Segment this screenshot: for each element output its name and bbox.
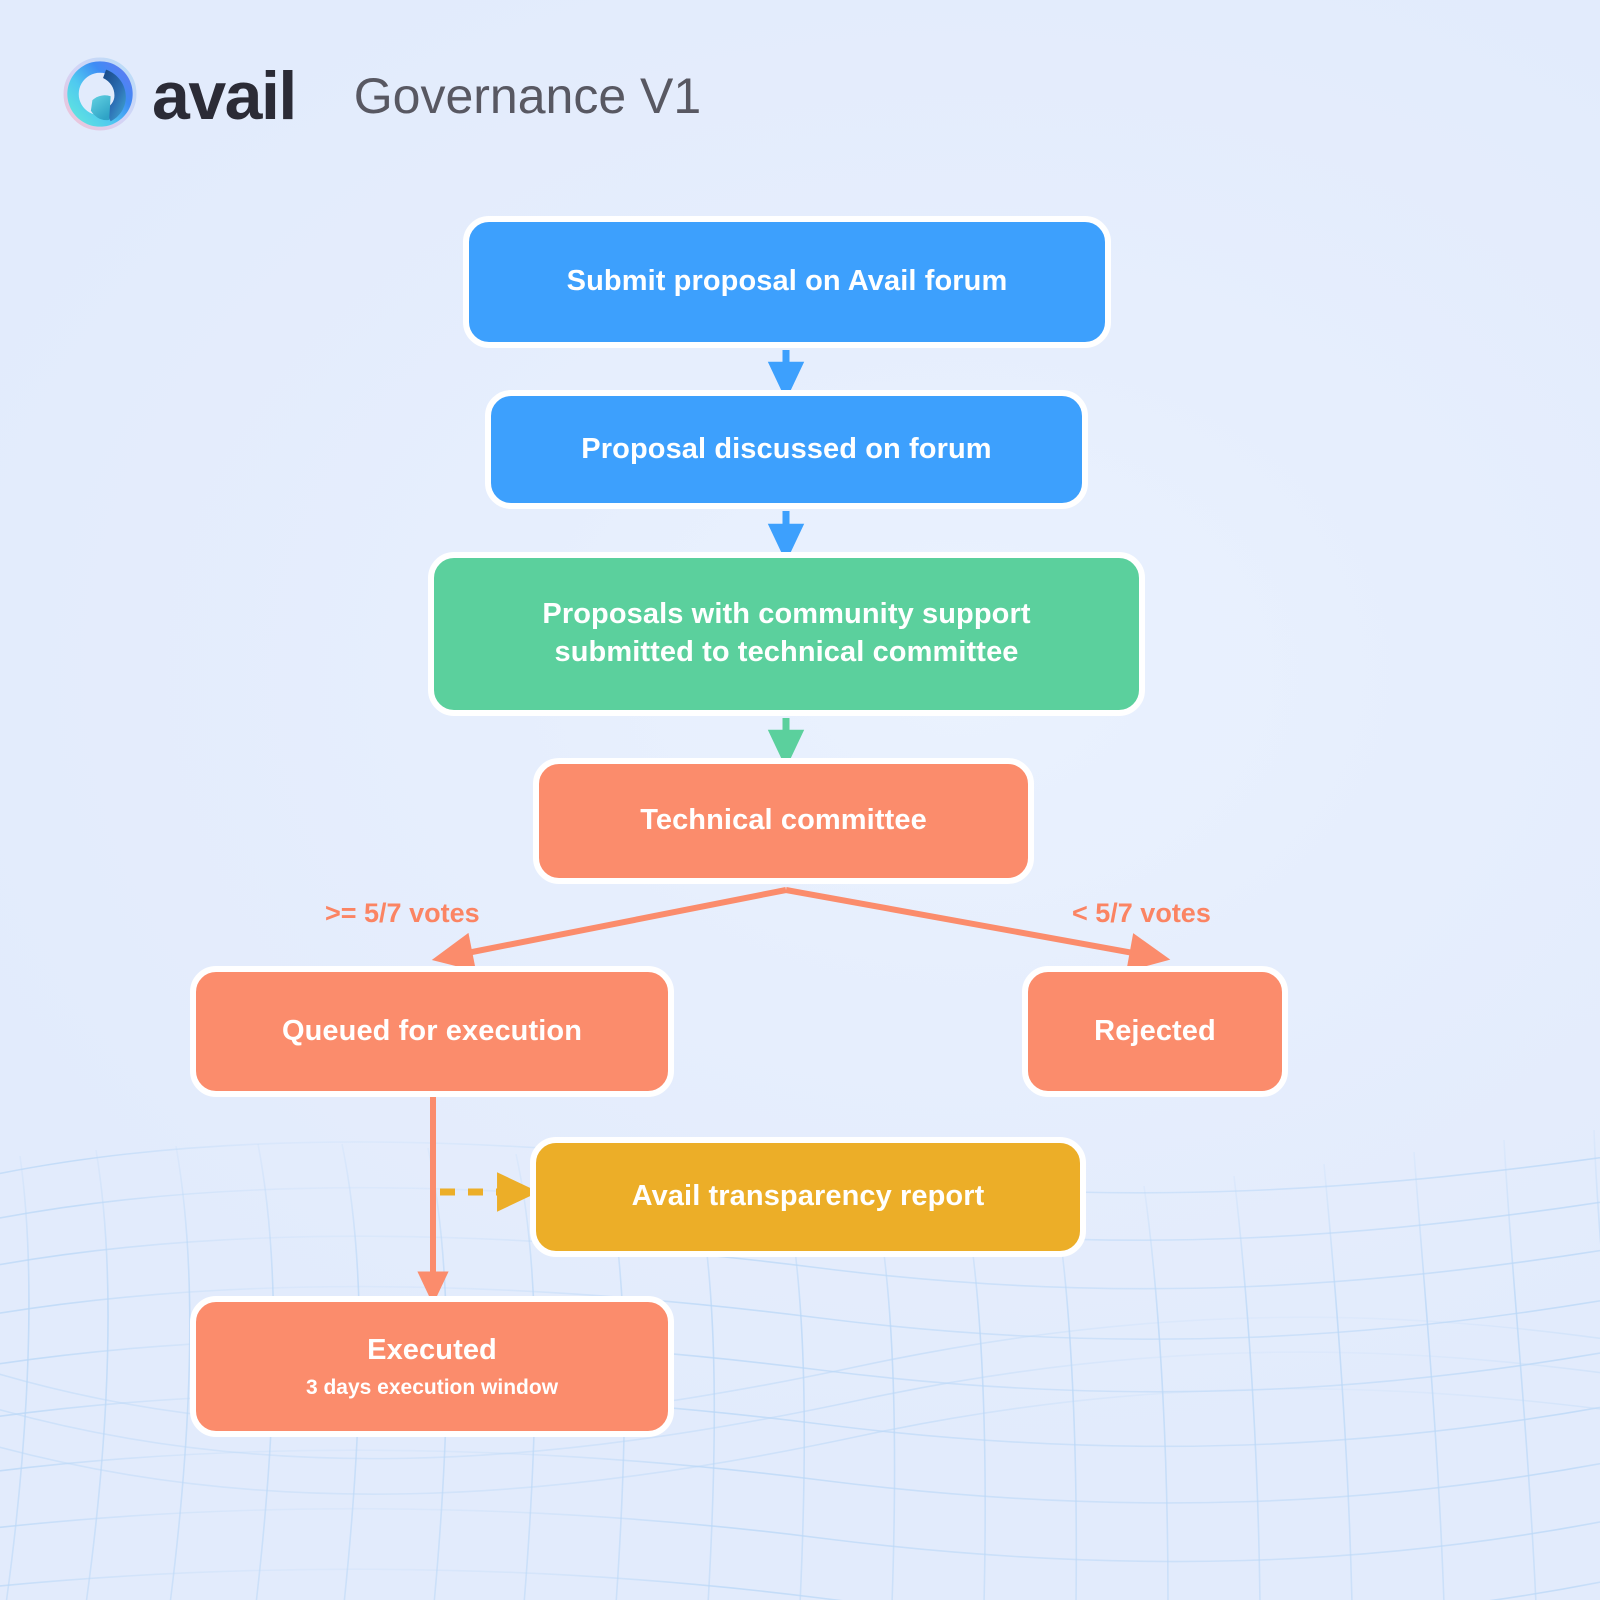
node-proposal-discussed[interactable]: Proposal discussed on forum [485, 390, 1088, 509]
node-label: Submit proposal on Avail forum [567, 263, 1008, 301]
node-executed[interactable]: Executed 3 days execution window [190, 1296, 674, 1437]
edge-label-approve: >= 5/7 votes [325, 898, 480, 929]
header: avail Governance V1 [62, 48, 701, 140]
node-sublabel: 3 days execution window [306, 1374, 558, 1401]
node-avail-transparency-report[interactable]: Avail transparency report [530, 1137, 1086, 1257]
node-label: Executed [367, 1332, 497, 1370]
node-label: Avail transparency report [632, 1178, 985, 1216]
node-submit-proposal[interactable]: Submit proposal on Avail forum [463, 216, 1111, 348]
brand-name: avail [152, 62, 296, 130]
node-rejected[interactable]: Rejected [1022, 966, 1288, 1097]
node-community-support[interactable]: Proposals with community support submitt… [428, 552, 1145, 716]
diagram-canvas: avail Governance V1 [0, 0, 1600, 1600]
node-queued-for-execution[interactable]: Queued for execution [190, 966, 674, 1097]
node-technical-committee[interactable]: Technical committee [533, 758, 1034, 884]
node-label: Queued for execution [282, 1013, 582, 1051]
node-label: Proposals with community support submitt… [542, 596, 1030, 671]
node-label: Rejected [1094, 1013, 1216, 1051]
edge-label-reject: < 5/7 votes [1072, 898, 1211, 929]
page-title: Governance V1 [354, 71, 701, 121]
node-label: Proposal discussed on forum [581, 431, 991, 469]
node-label: Technical committee [640, 802, 927, 840]
avail-ring-logo-icon [62, 56, 138, 132]
edge-committee-to-queued [452, 890, 786, 956]
